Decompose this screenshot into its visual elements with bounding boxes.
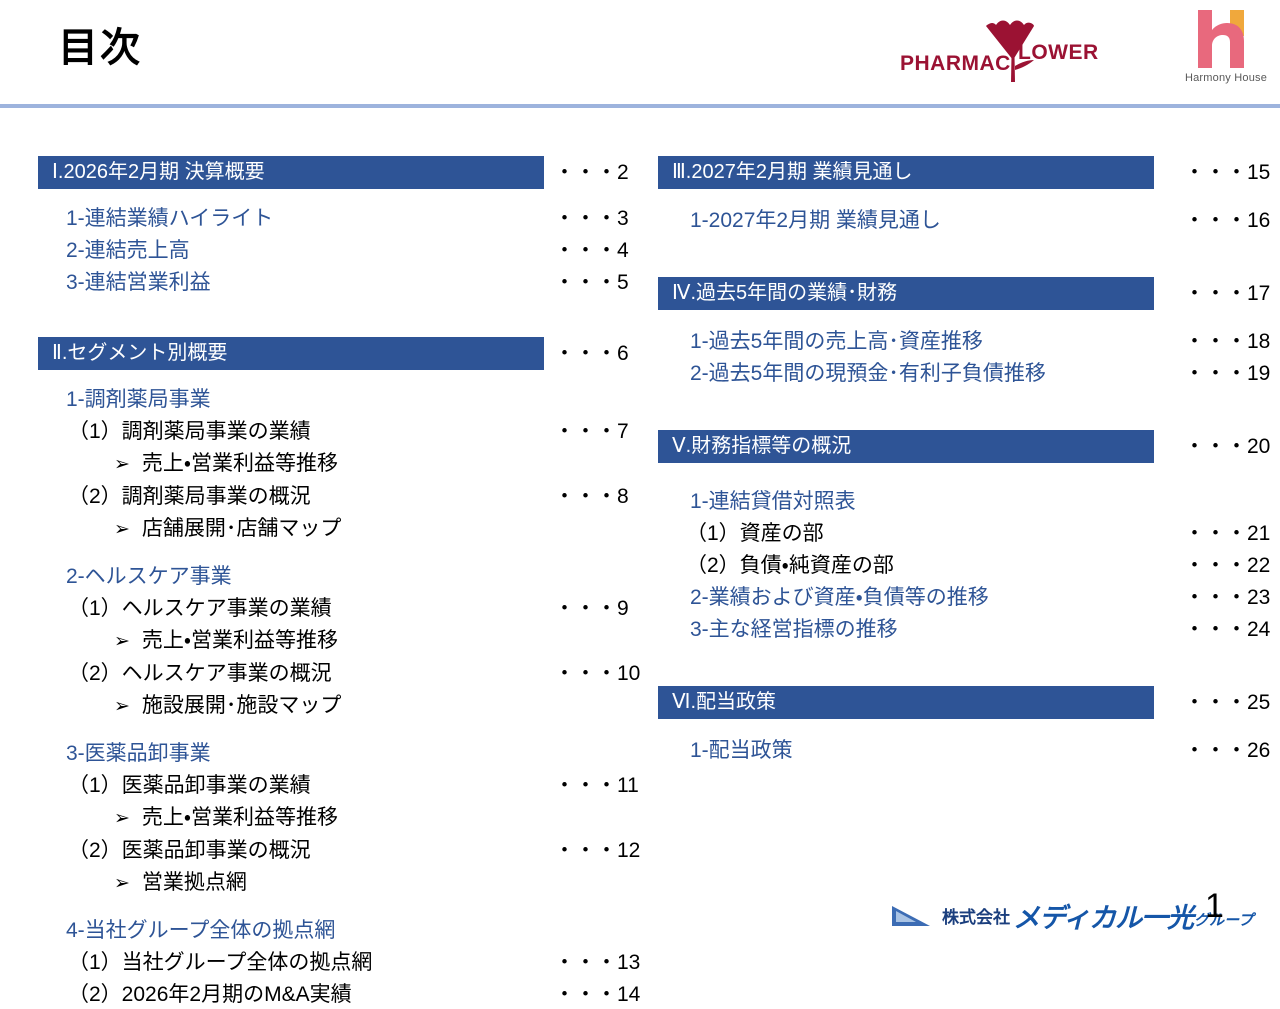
toc-entry-row[interactable]: （1）医薬品卸事業の業績・・・11 — [38, 771, 628, 800]
toc-item-3-医薬品卸事業[interactable]: 3-医薬品卸事業 — [38, 739, 628, 768]
toc-item-1-資産の部[interactable]: （1）資産の部 — [658, 519, 1258, 548]
toc-item-2-医薬品卸事業の概況[interactable]: （2）医薬品卸事業の概況 — [38, 836, 628, 865]
toc-entry-row[interactable]: 3-連結営業利益・・・5 — [38, 268, 628, 297]
page-number: ・・・15 — [1184, 156, 1270, 186]
toc-item-2-調剤薬局事業の概況[interactable]: （2）調剤薬局事業の概況 — [38, 482, 628, 511]
toc-entry-row[interactable]: ➢ 売上・営業利益等推移 — [38, 803, 628, 833]
page-number: ・・・16 — [1184, 206, 1270, 235]
toc-entry-row[interactable]: ➢ 売上・営業利益等推移 — [38, 449, 628, 479]
toc-item-2-ヘルスケア事業の概況[interactable]: （2）ヘルスケア事業の概況 — [38, 659, 628, 688]
toc-entry-row[interactable]: 3-医薬品卸事業 — [38, 739, 628, 768]
toc-item-1-医薬品卸事業の業績[interactable]: （1）医薬品卸事業の業績 — [38, 771, 628, 800]
toc-entry-row[interactable]: （1）ヘルスケア事業の業績・・・9 — [38, 594, 628, 623]
slide-header: 目次 PHARMAC LOWER Harmony House — [0, 0, 1280, 104]
toc-item-3-主な経営指標の推移[interactable]: 3-主な経営指標の推移 — [658, 615, 1258, 644]
section-header-配当政策[interactable]: Ⅵ.配当政策 — [658, 686, 1154, 719]
toc-entry-row[interactable]: （1）調剤薬局事業の業績・・・7 — [38, 417, 628, 446]
section-header-2027年2月期-業績見通し[interactable]: Ⅲ.2027年2月期 業績見通し — [658, 156, 1154, 189]
toc-section-row[interactable]: Ⅲ.2027年2月期 業績見通し・・・15 — [658, 156, 1258, 189]
toc-item-2-2026年2月期のm-a実績[interactable]: （2）2026年2月期のM&A実績 — [38, 980, 628, 1009]
page-number: ・・・20 — [1184, 430, 1270, 460]
toc-item-施設展開-施設マップ[interactable]: ➢ 施設展開･施設マップ — [38, 691, 628, 721]
toc-item-label: （1）資産の部 — [686, 522, 824, 545]
page-number: ・・・8 — [554, 482, 629, 511]
company-name: メディカル一光 — [1013, 896, 1193, 935]
pharmacy-flower-logo: PHARMAC LOWER — [900, 8, 1115, 88]
section-header-2026年2月期-決算概要[interactable]: Ⅰ.2026年2月期 決算概要 — [38, 156, 544, 189]
slide-footer: 株式会社 メディカル一光 グループ 1 — [0, 884, 1280, 960]
page-number: ・・・25 — [1184, 686, 1270, 716]
toc-entry-row[interactable]: 1-連結貸借対照表 — [658, 487, 1258, 516]
section-header-財務指標等の概況[interactable]: Ⅴ.財務指標等の概況 — [658, 430, 1154, 463]
toc-item-売上・営業利益等推移[interactable]: ➢ 売上・営業利益等推移 — [38, 626, 628, 656]
toc-item-label: 1-連結貸借対照表 — [690, 490, 856, 513]
toc-section-row[interactable]: Ⅱ.セグメント別概要・・・6 — [38, 337, 628, 370]
arrow-bullet-icon: ➢ — [114, 692, 136, 721]
toc-item-売上・営業利益等推移[interactable]: ➢ 売上・営業利益等推移 — [38, 803, 628, 833]
page-number: ・・・5 — [554, 268, 629, 297]
toc-item-label: 1-調剤薬局事業 — [66, 388, 211, 411]
arrow-bullet-icon: ➢ — [114, 450, 136, 479]
spacer — [658, 719, 1258, 733]
toc-entry-row[interactable]: （2）調剤薬局事業の概況・・・8 — [38, 482, 628, 511]
toc-item-label: 売上・営業利益等推移 — [136, 629, 338, 652]
triangle-mark-icon — [890, 902, 936, 928]
toc-section-row[interactable]: Ⅳ.過去5年間の業績･財務・・・17 — [658, 277, 1258, 310]
toc-entry-row[interactable]: ➢ 売上・営業利益等推移 — [38, 626, 628, 656]
toc-section-row[interactable]: Ⅴ.財務指標等の概況・・・20 — [658, 430, 1258, 463]
page-number: ・・・7 — [554, 417, 629, 446]
toc-item-label: 1-配当政策 — [690, 739, 793, 762]
toc-item-label: （2）ヘルスケア事業の概況 — [68, 662, 332, 685]
page-number: ・・・2 — [554, 156, 629, 186]
toc-entry-row[interactable]: （1）資産の部・・・21 — [658, 519, 1258, 548]
slide-page-number: 1 — [1205, 887, 1224, 926]
harmony-house-caption: Harmony House — [1178, 72, 1274, 84]
toc-item-1-連結貸借対照表[interactable]: 1-連結貸借対照表 — [658, 487, 1258, 516]
pharmacy-flower-word-right: LOWER — [1018, 41, 1099, 65]
toc-item-2-ヘルスケア事業[interactable]: 2-ヘルスケア事業 — [38, 562, 628, 591]
page-number: ・・・23 — [1184, 583, 1270, 612]
page-number: ・・・3 — [554, 204, 629, 233]
toc-item-label: （2）2026年2月期のM&A実績 — [68, 983, 352, 1006]
toc-entry-row[interactable]: 1-配当政策・・・26 — [658, 736, 1258, 765]
arrow-bullet-icon: ➢ — [114, 627, 136, 656]
section-header-セグメント別概要[interactable]: Ⅱ.セグメント別概要 — [38, 337, 544, 370]
page-number: ・・・6 — [554, 337, 629, 367]
toc-item-label: （2）調剤薬局事業の概況 — [68, 485, 311, 508]
toc-item-2-連結売上高[interactable]: 2-連結売上高 — [38, 236, 628, 265]
page-number: ・・・17 — [1184, 277, 1270, 307]
toc-item-2-負債・純資産の部[interactable]: （2）負債・純資産の部 — [658, 551, 1258, 580]
spacer — [658, 463, 1258, 477]
page-number: ・・・19 — [1184, 359, 1270, 388]
page-number: ・・・14 — [554, 980, 640, 1009]
page-title: 目次 — [58, 28, 142, 68]
toc-item-売上・営業利益等推移[interactable]: ➢ 売上・営業利益等推移 — [38, 449, 628, 479]
toc-item-label: 1-連結業績ハイライト — [66, 207, 273, 230]
page-number: ・・・26 — [1184, 736, 1270, 765]
toc-item-label: （1）医薬品卸事業の業績 — [68, 774, 311, 797]
toc-item-label: 2-連結売上高 — [66, 239, 190, 262]
toc-item-label: 3-連結営業利益 — [66, 271, 211, 294]
toc-item-label: （1）調剤薬局事業の業績 — [68, 420, 311, 443]
toc-item-label: 店舗展開･店舗マップ — [136, 517, 341, 540]
toc-item-label: 1-過去5年間の売上高･資産推移 — [690, 330, 983, 353]
page-number: ・・・18 — [1184, 327, 1270, 356]
toc-item-label: 1-2027年2月期 業績見通し — [690, 209, 941, 232]
spacer — [38, 189, 628, 201]
toc-entry-row[interactable]: 3-主な経営指標の推移・・・24 — [658, 615, 1258, 644]
toc-entry-row[interactable]: 2-業績および資産・負債等の推移・・・23 — [658, 583, 1258, 612]
toc-right-column: Ⅲ.2027年2月期 業績見通し・・・151-2027年2月期 業績見通し・・・… — [658, 104, 1258, 765]
company-prefix: 株式会社 — [942, 903, 1010, 928]
toc-item-店舗展開-店舗マップ[interactable]: ➢ 店舗展開･店舗マップ — [38, 514, 628, 544]
toc-item-label: （2）負債・純資産の部 — [686, 554, 894, 577]
toc-entry-row[interactable]: 1-連結業績ハイライト・・・3 — [38, 204, 628, 233]
spacer — [38, 370, 628, 382]
toc-entry-row[interactable]: ➢ 施設展開･施設マップ — [38, 691, 628, 721]
toc-entry-row[interactable]: 1-過去5年間の売上高･資産推移・・・18 — [658, 327, 1258, 356]
toc-section-row[interactable]: Ⅰ.2026年2月期 決算概要・・・2 — [38, 156, 628, 189]
page-number: ・・・4 — [554, 236, 629, 265]
toc-item-label: 3-医薬品卸事業 — [66, 742, 211, 765]
toc-item-1-調剤薬局事業の業績[interactable]: （1）調剤薬局事業の業績 — [38, 417, 628, 446]
page-number: ・・・24 — [1184, 615, 1270, 644]
toc-item-label: 売上・営業利益等推移 — [136, 806, 338, 829]
toc-item-2-過去5年間の現預金-有利子負債推移[interactable]: 2-過去5年間の現預金･有利子負債推移 — [658, 359, 1258, 388]
page-number: ・・・22 — [1184, 551, 1270, 580]
toc-item-1-配当政策[interactable]: 1-配当政策 — [658, 736, 1258, 765]
toc-item-1-連結業績ハイライト[interactable]: 1-連結業績ハイライト — [38, 204, 628, 233]
toc-item-1-2027年2月期-業績見通し[interactable]: 1-2027年2月期 業績見通し — [658, 206, 1258, 235]
toc-entry-row[interactable]: （2）ヘルスケア事業の概況・・・10 — [38, 659, 628, 688]
toc-item-label: （2）医薬品卸事業の概況 — [68, 839, 311, 862]
toc-item-1-調剤薬局事業[interactable]: 1-調剤薬局事業 — [38, 385, 628, 414]
spacer — [658, 310, 1258, 324]
toc-entry-row[interactable]: 2-過去5年間の現預金･有利子負債推移・・・19 — [658, 359, 1258, 388]
page-number: ・・・11 — [554, 771, 639, 800]
harmony-house-logo: Harmony House — [1178, 8, 1274, 94]
spacer — [658, 189, 1258, 203]
toc-item-label: 2-ヘルスケア事業 — [66, 565, 232, 588]
toc-item-label: 2-業績および資産・負債等の推移 — [690, 586, 989, 609]
toc-item-1-ヘルスケア事業の業績[interactable]: （1）ヘルスケア事業の業績 — [38, 594, 628, 623]
toc-item-1-過去5年間の売上高-資産推移[interactable]: 1-過去5年間の売上高･資産推移 — [658, 327, 1258, 356]
toc-body: Ⅰ.2026年2月期 決算概要・・・21-連結業績ハイライト・・・32-連結売上… — [0, 104, 1280, 884]
toc-item-label: 3-主な経営指標の推移 — [690, 618, 898, 641]
arrow-bullet-icon: ➢ — [114, 804, 136, 833]
toc-left-column: Ⅰ.2026年2月期 決算概要・・・21-連結業績ハイライト・・・32-連結売上… — [38, 104, 628, 1009]
toc-entry-row[interactable]: （2）2026年2月期のM&A実績・・・14 — [38, 980, 628, 1009]
arrow-bullet-icon: ➢ — [114, 515, 136, 544]
page-number: ・・・10 — [554, 659, 640, 688]
toc-item-label: 施設展開･施設マップ — [136, 694, 341, 717]
toc-item-label: 売上・営業利益等推移 — [136, 452, 338, 475]
letter-h-icon — [1192, 8, 1254, 70]
toc-item-3-連結営業利益[interactable]: 3-連結営業利益 — [38, 268, 628, 297]
toc-entry-row[interactable]: ➢ 店舗展開･店舗マップ — [38, 514, 628, 544]
toc-item-label: （1）ヘルスケア事業の業績 — [68, 597, 332, 620]
toc-entry-row[interactable]: （2）負債・純資産の部・・・22 — [658, 551, 1258, 580]
page-number: ・・・9 — [554, 594, 629, 623]
toc-item-label: 2-過去5年間の現預金･有利子負債推移 — [690, 362, 1046, 385]
section-header-過去5年間の業績-財務[interactable]: Ⅳ.過去5年間の業績･財務 — [658, 277, 1154, 310]
page-number: ・・・21 — [1184, 519, 1270, 548]
toc-entry-row[interactable]: 2-連結売上高・・・4 — [38, 236, 628, 265]
medical-ikko-group-logo: 株式会社 メディカル一光 グループ — [890, 898, 1253, 932]
toc-entry-row[interactable]: 1-2027年2月期 業績見通し・・・16 — [658, 206, 1258, 235]
page-number: ・・・12 — [554, 836, 640, 865]
toc-entry-row[interactable]: （2）医薬品卸事業の概況・・・12 — [38, 836, 628, 865]
toc-item-2-業績および資産・負債等の推移[interactable]: 2-業績および資産・負債等の推移 — [658, 583, 1258, 612]
toc-entry-row[interactable]: 1-調剤薬局事業 — [38, 385, 628, 414]
toc-entry-row[interactable]: 2-ヘルスケア事業 — [38, 562, 628, 591]
toc-section-row[interactable]: Ⅵ.配当政策・・・25 — [658, 686, 1258, 719]
